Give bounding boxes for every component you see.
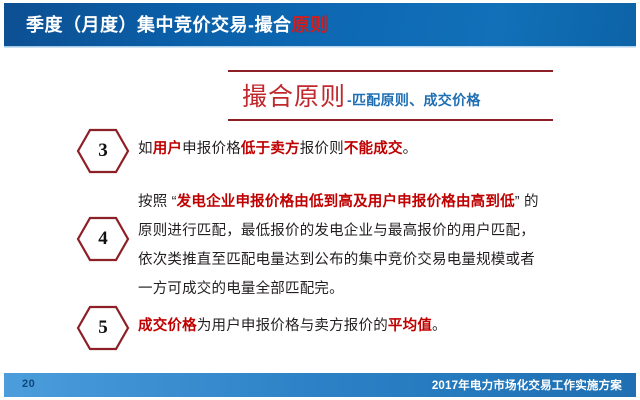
body-text: 。 <box>403 141 418 157</box>
emphasis-text: 成交价格 <box>138 318 197 334</box>
hexagon-badge-3: 3 <box>76 128 130 174</box>
hexagon-badge-4: 4 <box>76 216 130 262</box>
item-text: 按照 “发电企业申报价格由低到高及用户申报价格由高到低” 的原则进行匹配，最低报… <box>130 188 546 304</box>
emphasis-text: 用户 <box>153 141 182 157</box>
header-title-main: 季度（月度）集中竞价交易-撮合 <box>26 15 292 35</box>
heading-title: 撮合原则 <box>242 77 346 113</box>
list-item: 5 成交价格为用户申报价格与卖方报价的平均值。 <box>76 305 546 351</box>
slide-canvas: 季度（月度）集中竞价交易-撮合原则 撮合原则 -匹配原则、成交价格 3 如用户申… <box>0 0 640 400</box>
header-title-accent: 原则 <box>292 15 329 35</box>
list-item: 4 按照 “发电企业申报价格由低到高及用户申报价格由高到低” 的原则进行匹配，最… <box>76 188 546 304</box>
heading-row: 撮合原则 -匹配原则、成交价格 <box>228 74 553 117</box>
badge-number: 5 <box>76 305 130 351</box>
list-item: 3 如用户申报价格低于卖方报价则不能成交。 <box>76 128 546 174</box>
item-text: 如用户申报价格低于卖方报价则不能成交。 <box>130 128 546 164</box>
emphasis-text: 低于卖方 <box>241 141 300 157</box>
footer-bar: 20 2017年电力市场化交易工作实施方案 <box>4 373 636 397</box>
hexagon-badge-5: 5 <box>76 305 130 351</box>
item-text: 成交价格为用户申报价格与卖方报价的平均值。 <box>130 305 546 341</box>
body-text: 按照 “ <box>138 194 177 210</box>
header-underglow-divider <box>4 46 636 48</box>
body-text: 。 <box>432 318 447 334</box>
body-text: 报价则 <box>300 141 344 157</box>
badge-number: 3 <box>76 128 130 174</box>
badge-number: 4 <box>76 216 130 262</box>
header-bar: 季度（月度）集中竞价交易-撮合原则 <box>4 3 636 47</box>
heading-rule-bottom <box>228 119 553 121</box>
emphasis-text: 发电企业申报价格由低到高及用户申报价格由高到低 <box>177 194 515 210</box>
emphasis-text: 不能成交 <box>344 141 403 157</box>
emphasis-text: 平均值 <box>388 318 432 334</box>
heading-subtitle: -匹配原则、成交价格 <box>347 90 481 110</box>
footer-page-number: 20 <box>22 378 35 390</box>
header-title: 季度（月度）集中竞价交易-撮合原则 <box>26 12 329 38</box>
section-heading-block: 撮合原则 -匹配原则、成交价格 <box>228 70 553 121</box>
body-text: 申报价格 <box>182 141 241 157</box>
footer-caption: 2017年电力市场化交易工作实施方案 <box>432 377 622 393</box>
body-text: 为用户申报价格与卖方报价的 <box>197 318 388 334</box>
body-text: 如 <box>138 141 153 157</box>
heading-rule-top <box>228 70 553 72</box>
